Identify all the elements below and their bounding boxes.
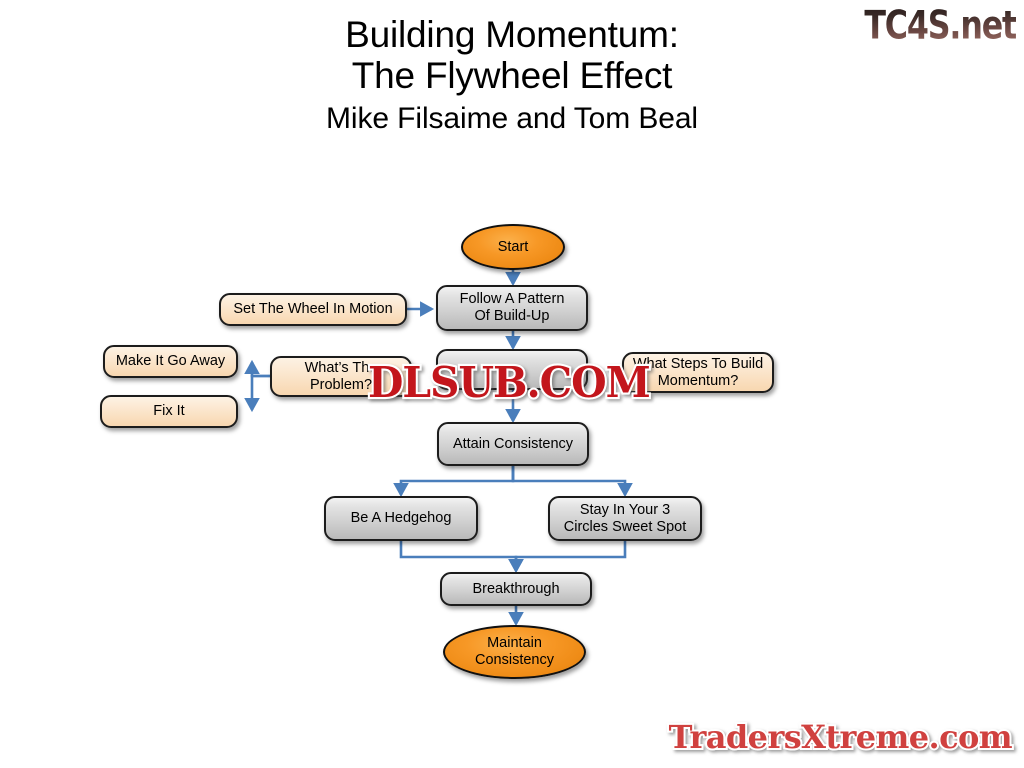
node-what-steps-line-1: What Steps To Build bbox=[633, 356, 763, 373]
node-make-it-go-away-label: Make It Go Away bbox=[116, 353, 225, 370]
node-breakthrough-label: Breakthrough bbox=[472, 581, 559, 598]
node-start-label: Start bbox=[498, 239, 529, 256]
node-set-the-wheel-in-motion-label: Set The Wheel In Motion bbox=[233, 301, 392, 318]
node-maintain-consistency[interactable]: Maintain Consistency bbox=[443, 625, 586, 679]
edge-hedgehog-to-breakthrough bbox=[401, 541, 516, 571]
node-whats-the-problem-line-2: Problem? bbox=[310, 377, 372, 394]
node-maintain-consistency-line-2: Consistency bbox=[475, 652, 554, 669]
node-be-a-hedgehog-label: Be A Hedgehog bbox=[351, 510, 452, 527]
node-stay-in-your-3-circles-sweet-spot[interactable]: Stay In Your 3 Circles Sweet Spot bbox=[548, 496, 702, 541]
node-fix-it[interactable]: Fix It bbox=[100, 395, 238, 428]
watermark-dlsub-com: DLSUB.COM bbox=[368, 358, 650, 407]
node-attain-consistency[interactable]: Attain Consistency bbox=[437, 422, 589, 466]
node-maintain-consistency-line-1: Maintain bbox=[487, 635, 542, 652]
node-be-a-hedgehog[interactable]: Be A Hedgehog bbox=[324, 496, 478, 541]
node-what-steps-line-2: Momentum? bbox=[658, 373, 739, 390]
edge-problem-to-goaway bbox=[252, 362, 270, 376]
node-fix-it-label: Fix It bbox=[153, 403, 184, 420]
node-attain-consistency-label: Attain Consistency bbox=[453, 436, 573, 453]
watermark-tc4s-net: TC4S.net bbox=[864, 2, 1016, 48]
page-subtitle: Mike Filsaime and Tom Beal bbox=[0, 102, 1024, 136]
edge-consistency-to-circles bbox=[513, 466, 625, 495]
node-follow-a-pattern[interactable]: Follow A Pattern Of Build-Up bbox=[436, 285, 588, 331]
node-follow-a-pattern-line-2: Of Build-Up bbox=[475, 308, 550, 325]
watermark-tradersxtreme-com: TradersXtreme.com bbox=[669, 718, 1012, 756]
node-breakthrough[interactable]: Breakthrough bbox=[440, 572, 592, 606]
node-circles-line-1: Stay In Your 3 bbox=[580, 502, 670, 519]
edge-problem-to-fixit bbox=[252, 376, 270, 410]
node-make-it-go-away[interactable]: Make It Go Away bbox=[103, 345, 238, 378]
node-follow-a-pattern-line-1: Follow A Pattern bbox=[460, 291, 565, 308]
edge-circles-to-breakthrough bbox=[516, 541, 625, 571]
page-title-line-2: The Flywheel Effect bbox=[0, 55, 1024, 96]
node-circles-line-2: Circles Sweet Spot bbox=[564, 519, 687, 536]
edge-consistency-to-hedgehog bbox=[401, 466, 513, 495]
node-set-the-wheel-in-motion[interactable]: Set The Wheel In Motion bbox=[219, 293, 407, 326]
node-start[interactable]: Start bbox=[461, 224, 565, 270]
slide-canvas: Building Momentum: The Flywheel Effect M… bbox=[0, 0, 1024, 768]
node-whats-the-problem-line-1: What’s The bbox=[305, 360, 378, 377]
